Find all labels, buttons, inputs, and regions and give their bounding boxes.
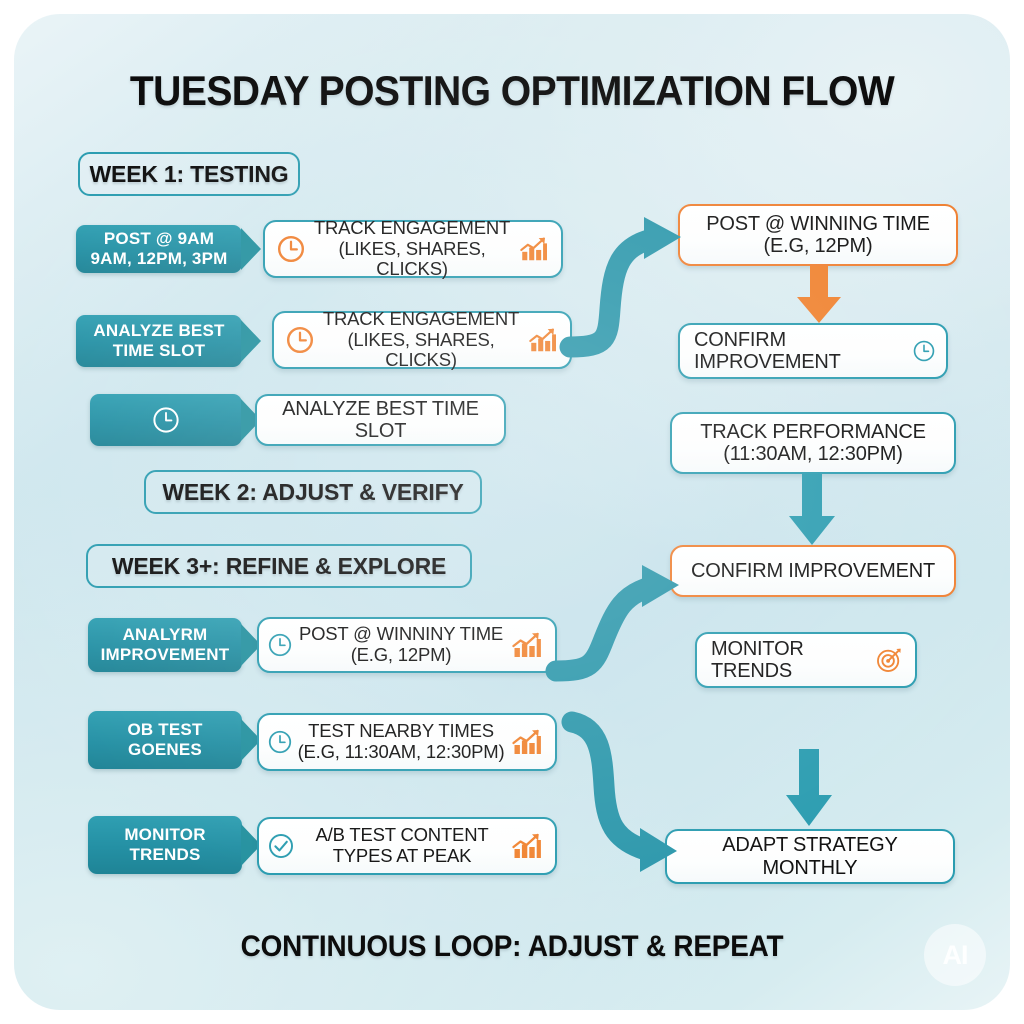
left-box-track-engagement-1[interactable]: TRACK ENGAGEMENT (LIKES, SHARES, CLICKS) — [263, 220, 563, 278]
section-header-week-1: WEEK 1: TESTING — [78, 152, 300, 196]
s-curve-week1-to-post-winning-time — [564, 189, 704, 379]
section-header-week-2-label: WEEK 2: ADJUST & VERIFY — [162, 479, 463, 506]
right-box-confirm-improvement-2-label: CONFIRM IMPROVEMENT — [684, 560, 942, 582]
ai-watermark: AI — [924, 924, 986, 986]
right-box-confirm-improvement-1-label: CONFIRM IMPROVEMENT — [694, 329, 910, 374]
left-tag-ob-test-goenes-label: OB TEST GOENES — [96, 720, 234, 759]
right-box-adapt-strategy-monthly-label: ADAPT STRATEGY MONTHLY — [679, 834, 941, 879]
left-box-track-engagement-1-label: TRACK ENGAGEMENT (LIKES, SHARES, CLICKS) — [309, 218, 515, 280]
down-arrow-post-to-confirm — [789, 266, 849, 324]
right-box-post-winning-time-label: POST @ WINNING TIME (E.G, 12PM) — [692, 213, 944, 258]
down-arrow-track-to-confirm — [782, 474, 842, 546]
left-tag-ob-test-goenes[interactable]: OB TEST GOENES — [88, 711, 242, 769]
bar-chart-growth-icon — [515, 234, 551, 264]
left-tag-clock-only[interactable] — [90, 394, 242, 446]
s-curve-week3-to-confirm-improvement — [550, 539, 695, 699]
right-box-confirm-improvement-2[interactable]: CONFIRM IMPROVEMENT — [670, 545, 956, 597]
section-header-week-2: WEEK 2: ADJUST & VERIFY — [144, 470, 482, 514]
left-tag-monitor-trends[interactable]: MONITOR TRENDS — [88, 816, 242, 874]
target-dart-icon — [873, 646, 905, 674]
left-tag-analyrm-improvement[interactable]: ANALYRM IMPROVEMENT — [88, 618, 242, 672]
check-circle-icon — [265, 832, 297, 860]
left-box-track-engagement-2[interactable]: TRACK ENGAGEMENT (LIKES, SHARES, CLICKS) — [272, 311, 572, 369]
infographic-canvas: TUESDAY POSTING OPTIMIZATION FLOW WEEK 1… — [14, 14, 1010, 1010]
right-box-monitor-trends[interactable]: MONITOR TRENDS — [695, 632, 917, 688]
left-box-post-winning-time[interactable]: POST @ WINNINY TIME (E.G, 12PM) — [257, 617, 557, 673]
clock-icon — [282, 325, 318, 355]
bar-chart-growth-icon — [507, 726, 545, 758]
clock-icon — [151, 405, 181, 435]
clock-icon — [273, 234, 309, 264]
section-header-week-3: WEEK 3+: REFINE & EXPLORE — [86, 544, 472, 588]
left-box-ab-test-content[interactable]: A/B TEST CONTENT TYPES AT PEAK — [257, 817, 557, 875]
right-box-track-performance-label: TRACK PERFORMANCE (11:30AM, 12:30PM) — [684, 421, 942, 466]
ai-watermark-label: AI — [943, 940, 968, 971]
left-tag-analyrm-improvement-label: ANALYRM IMPROVEMENT — [96, 625, 234, 664]
bar-chart-growth-icon — [524, 325, 560, 355]
left-box-test-nearby-times-label: TEST NEARBY TIMES (E.G, 11:30AM, 12:30PM… — [295, 721, 507, 762]
section-header-week-3-label: WEEK 3+: REFINE & EXPLORE — [112, 553, 446, 580]
left-box-ab-test-content-label: A/B TEST CONTENT TYPES AT PEAK — [297, 825, 507, 866]
footer-caption: CONTINUOUS LOOP: ADJUST & REPEAT — [49, 930, 975, 964]
page-title: TUESDAY POSTING OPTIMIZATION FLOW — [49, 67, 975, 115]
clock-icon — [910, 339, 938, 363]
right-box-monitor-trends-label: MONITOR TRENDS — [711, 638, 873, 683]
infographic-root: TUESDAY POSTING OPTIMIZATION FLOW WEEK 1… — [0, 0, 1024, 1024]
left-tag-post-at-9am[interactable]: POST @ 9AM 9AM, 12PM, 3PM — [76, 225, 242, 273]
down-arrow-monitor-to-adapt — [779, 749, 839, 827]
left-box-analyze-best-time-slot[interactable]: ANALYZE BEST TIME SLOT — [255, 394, 506, 446]
right-box-confirm-improvement-1[interactable]: CONFIRM IMPROVEMENT — [678, 323, 948, 379]
left-tag-monitor-trends-label: MONITOR TRENDS — [96, 825, 234, 864]
left-tag-analyze-best-time-slot[interactable]: ANALYZE BEST TIME SLOT — [76, 315, 242, 367]
clock-icon — [265, 729, 295, 755]
left-box-post-winning-time-label: POST @ WINNINY TIME (E.G, 12PM) — [295, 624, 507, 665]
right-box-adapt-strategy-monthly[interactable]: ADAPT STRATEGY MONTHLY — [665, 829, 955, 884]
section-header-week-1-label: WEEK 1: TESTING — [90, 161, 289, 188]
bar-chart-growth-icon — [507, 629, 545, 661]
s-curve-abtest-to-adapt-strategy — [554, 714, 704, 889]
right-box-track-performance[interactable]: TRACK PERFORMANCE (11:30AM, 12:30PM) — [670, 412, 956, 474]
left-box-track-engagement-2-label: TRACK ENGAGEMENT (LIKES, SHARES, CLICKS) — [318, 309, 524, 371]
right-box-post-winning-time[interactable]: POST @ WINNING TIME (E.G, 12PM) — [678, 204, 958, 266]
left-tag-analyze-best-time-slot-label: ANALYZE BEST TIME SLOT — [84, 321, 234, 360]
left-box-test-nearby-times[interactable]: TEST NEARBY TIMES (E.G, 11:30AM, 12:30PM… — [257, 713, 557, 771]
left-tag-post-at-9am-label: POST @ 9AM 9AM, 12PM, 3PM — [84, 229, 234, 268]
bar-chart-growth-icon — [507, 830, 545, 862]
clock-icon — [265, 632, 295, 658]
left-box-analyze-best-time-slot-label: ANALYZE BEST TIME SLOT — [267, 398, 494, 443]
